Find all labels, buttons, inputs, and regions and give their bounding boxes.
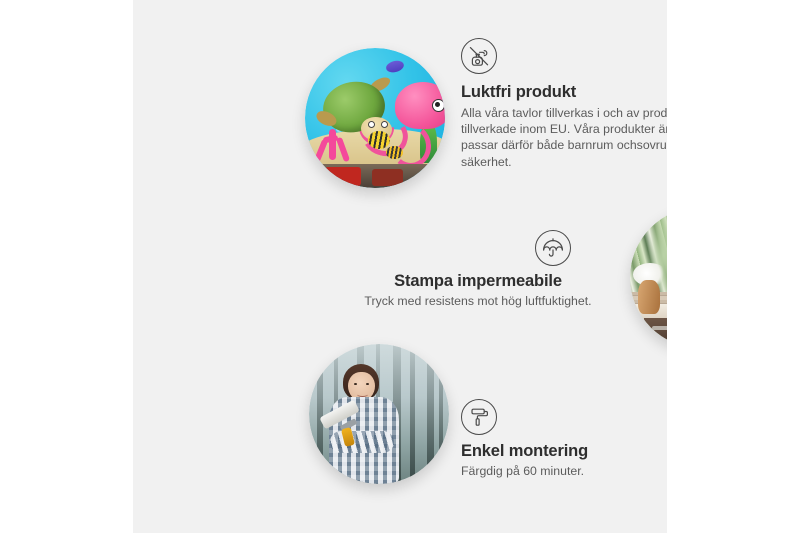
photo-bathroom-wallpaper — [630, 207, 667, 348]
turtle-eye-icon — [381, 121, 388, 128]
screenshot-stage: Luktfri produkt Alla våra tavlor tillver… — [0, 0, 800, 533]
feature-mounting-body: Färgdig på 60 minuter. — [461, 463, 667, 479]
paint-roller-icon — [461, 399, 497, 435]
bathroom-vanity-cabinet — [644, 318, 667, 348]
octopus-eye-icon — [432, 99, 445, 112]
feature-mounting-title: Enkel montering — [461, 442, 667, 461]
feature-waterproof-body: Tryck med resistens mot hög luftfuktighe… — [338, 293, 618, 309]
feature-mounting: Enkel montering Färgdig på 60 minuter. — [461, 399, 667, 479]
feature-waterproof: Stampa impermeabile Tryck med resistens … — [338, 230, 618, 309]
woman-folded-arms — [330, 431, 394, 453]
bathroom-vase — [638, 280, 659, 314]
photo-underwater-inner — [305, 48, 445, 188]
feature-odourless: Luktfri produkt Alla våra tavlor tillver… — [461, 38, 667, 170]
feature-waterproof-title: Stampa impermeabile — [338, 272, 618, 291]
umbrella-icon — [535, 230, 571, 266]
yellow-fish-icon — [386, 146, 403, 159]
woman-smile — [357, 392, 368, 397]
photo-woman-with-roller — [309, 344, 449, 484]
yellow-fish-icon — [368, 131, 390, 149]
product-feature-artboard: Luktfri produkt Alla våra tavlor tillver… — [133, 0, 667, 533]
turtle-eye-icon — [368, 121, 375, 128]
photo-underwater-scene — [305, 48, 445, 188]
sea-foreground-strip — [305, 164, 445, 188]
feature-odourless-body: Alla våra tavlor tillverkas i och av pro… — [461, 105, 667, 170]
no-odour-spray-icon — [461, 38, 497, 74]
photo-woman-inner — [309, 344, 449, 484]
feature-waterproof-icon-wrap — [338, 230, 618, 266]
photo-bathroom-inner — [630, 207, 667, 348]
feature-odourless-title: Luktfri produkt — [461, 83, 667, 102]
